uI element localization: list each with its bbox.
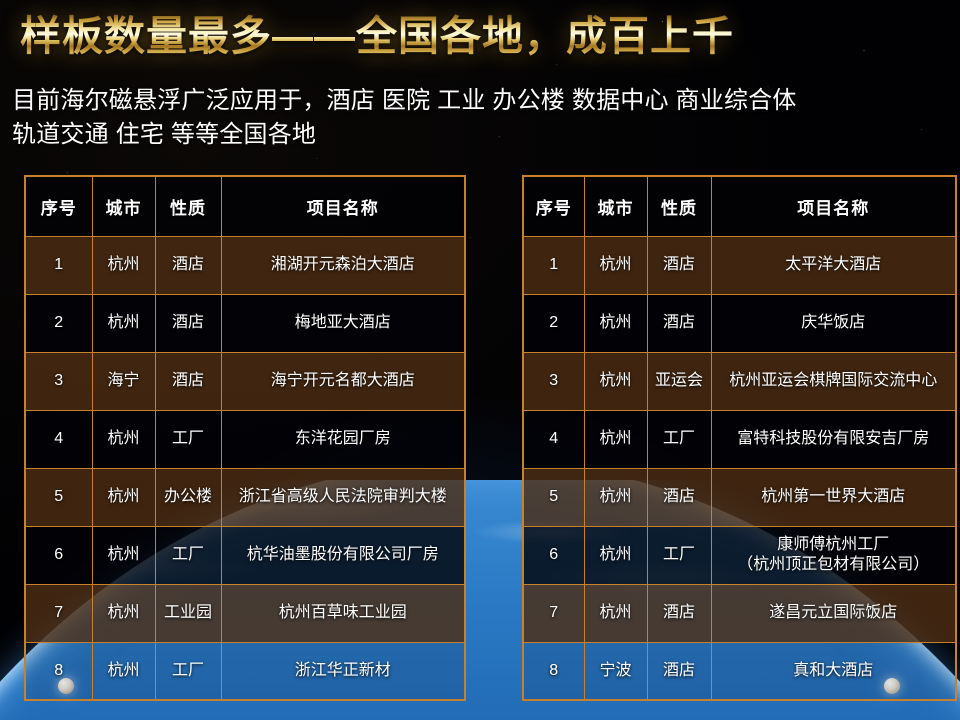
cell-project-name: 太平洋大酒店: [711, 236, 956, 294]
cell-type: 酒店: [647, 294, 711, 352]
cell-type: 酒店: [155, 236, 221, 294]
table-column-header-3: 项目名称: [711, 176, 956, 236]
cell-index: 2: [523, 294, 584, 352]
cell-city: 杭州: [584, 410, 647, 468]
table-right-head: 序号城市性质项目名称: [523, 176, 956, 236]
table-row: 8宁波酒店真和大酒店: [523, 642, 956, 700]
cell-type: 亚运会: [647, 352, 711, 410]
cell-city: 杭州: [92, 236, 155, 294]
subtitle-line-1: 目前海尔磁悬浮广泛应用于，酒店 医院 工业 办公楼 数据中心 商业综合体: [12, 84, 932, 118]
table-header-row: 序号城市性质项目名称: [523, 176, 956, 236]
cell-type: 酒店: [647, 642, 711, 700]
table-row: 8杭州工厂浙江华正新材: [25, 642, 465, 700]
table-row: 7杭州工业园杭州百草味工业园: [25, 584, 465, 642]
cell-project-name: 梅地亚大酒店: [221, 294, 465, 352]
cell-city: 杭州: [584, 468, 647, 526]
cell-city: 宁波: [584, 642, 647, 700]
cell-index: 5: [523, 468, 584, 526]
cell-index: 7: [25, 584, 92, 642]
table-left-body: 1杭州酒店湘湖开元森泊大酒店2杭州酒店梅地亚大酒店3海宁酒店海宁开元名都大酒店4…: [25, 236, 465, 700]
cell-index: 3: [25, 352, 92, 410]
cell-index: 6: [523, 526, 584, 584]
table-column-header-3: 项目名称: [221, 176, 465, 236]
cell-type: 工厂: [647, 526, 711, 584]
table-column-header-1: 城市: [584, 176, 647, 236]
cell-type: 工厂: [155, 410, 221, 468]
page-title: 样板数量最多——全国各地，成百上千: [20, 14, 734, 60]
cell-city: 杭州: [92, 526, 155, 584]
cell-project-name: 真和大酒店: [711, 642, 956, 700]
table-row: 4杭州工厂东洋花园厂房: [25, 410, 465, 468]
cell-type: 工厂: [647, 410, 711, 468]
cell-city: 杭州: [92, 642, 155, 700]
project-table-left: 序号城市性质项目名称 1杭州酒店湘湖开元森泊大酒店2杭州酒店梅地亚大酒店3海宁酒…: [24, 175, 466, 701]
cell-city: 杭州: [584, 236, 647, 294]
cell-city: 海宁: [92, 352, 155, 410]
cell-project-name: 庆华饭店: [711, 294, 956, 352]
cell-index: 1: [25, 236, 92, 294]
cell-type: 酒店: [647, 584, 711, 642]
table-column-header-1: 城市: [92, 176, 155, 236]
cell-city: 杭州: [584, 526, 647, 584]
cell-index: 8: [523, 642, 584, 700]
cell-project-name: 富特科技股份有限安吉厂房: [711, 410, 956, 468]
cell-project-name: 康师傅杭州工厂（杭州顶正包材有限公司）: [711, 526, 956, 584]
table-row: 7杭州酒店遂昌元立国际饭店: [523, 584, 956, 642]
table-row: 4杭州工厂富特科技股份有限安吉厂房: [523, 410, 956, 468]
table-header-row: 序号城市性质项目名称: [25, 176, 465, 236]
subtitle-line-2: 轨道交通 住宅 等等全国各地: [12, 118, 932, 152]
cell-type: 酒店: [155, 294, 221, 352]
page-subtitle: 目前海尔磁悬浮广泛应用于，酒店 医院 工业 办公楼 数据中心 商业综合体 轨道交…: [12, 84, 932, 152]
cell-project-name: 遂昌元立国际饭店: [711, 584, 956, 642]
cell-city: 杭州: [92, 410, 155, 468]
table-row: 3海宁酒店海宁开元名都大酒店: [25, 352, 465, 410]
cell-project-name: 浙江华正新材: [221, 642, 465, 700]
cell-project-name: 浙江省高级人民法院审判大楼: [221, 468, 465, 526]
cell-index: 4: [523, 410, 584, 468]
cell-index: 1: [523, 236, 584, 294]
cell-index: 8: [25, 642, 92, 700]
cell-project-name: 杭华油墨股份有限公司厂房: [221, 526, 465, 584]
table-row: 1杭州酒店湘湖开元森泊大酒店: [25, 236, 465, 294]
cell-type: 办公楼: [155, 468, 221, 526]
cell-city: 杭州: [92, 468, 155, 526]
cell-type: 酒店: [647, 236, 711, 294]
table-row: 2杭州酒店庆华饭店: [523, 294, 956, 352]
cell-project-name: 海宁开元名都大酒店: [221, 352, 465, 410]
cell-project-name: 杭州百草味工业园: [221, 584, 465, 642]
cell-type: 酒店: [647, 468, 711, 526]
table-row: 2杭州酒店梅地亚大酒店: [25, 294, 465, 352]
cell-city: 杭州: [92, 294, 155, 352]
cell-type: 工厂: [155, 526, 221, 584]
cell-project-name: 湘湖开元森泊大酒店: [221, 236, 465, 294]
table-column-header-2: 性质: [647, 176, 711, 236]
slide-root: 样板数量最多——全国各地，成百上千 目前海尔磁悬浮广泛应用于，酒店 医院 工业 …: [0, 0, 960, 720]
table-column-header-2: 性质: [155, 176, 221, 236]
table-row: 1杭州酒店太平洋大酒店: [523, 236, 956, 294]
table-row: 3杭州亚运会杭州亚运会棋牌国际交流中心: [523, 352, 956, 410]
cell-project-name: 杭州第一世界大酒店: [711, 468, 956, 526]
cell-index: 5: [25, 468, 92, 526]
table-left-head: 序号城市性质项目名称: [25, 176, 465, 236]
cell-project-name: 东洋花园厂房: [221, 410, 465, 468]
table-row: 6杭州工厂康师傅杭州工厂（杭州顶正包材有限公司）: [523, 526, 956, 584]
cell-index: 7: [523, 584, 584, 642]
project-table-right: 序号城市性质项目名称 1杭州酒店太平洋大酒店2杭州酒店庆华饭店3杭州亚运会杭州亚…: [522, 175, 957, 701]
cell-type: 工厂: [155, 642, 221, 700]
cell-index: 3: [523, 352, 584, 410]
table-row: 5杭州办公楼浙江省高级人民法院审判大楼: [25, 468, 465, 526]
cell-city: 杭州: [92, 584, 155, 642]
table-column-header-0: 序号: [523, 176, 584, 236]
cell-type: 酒店: [155, 352, 221, 410]
cell-index: 2: [25, 294, 92, 352]
table-row: 5杭州酒店杭州第一世界大酒店: [523, 468, 956, 526]
cell-city: 杭州: [584, 352, 647, 410]
cell-type: 工业园: [155, 584, 221, 642]
cell-index: 6: [25, 526, 92, 584]
table-column-header-0: 序号: [25, 176, 92, 236]
table-right-body: 1杭州酒店太平洋大酒店2杭州酒店庆华饭店3杭州亚运会杭州亚运会棋牌国际交流中心4…: [523, 236, 956, 700]
cell-city: 杭州: [584, 584, 647, 642]
cell-city: 杭州: [584, 294, 647, 352]
table-row: 6杭州工厂杭华油墨股份有限公司厂房: [25, 526, 465, 584]
cell-index: 4: [25, 410, 92, 468]
cell-project-name: 杭州亚运会棋牌国际交流中心: [711, 352, 956, 410]
